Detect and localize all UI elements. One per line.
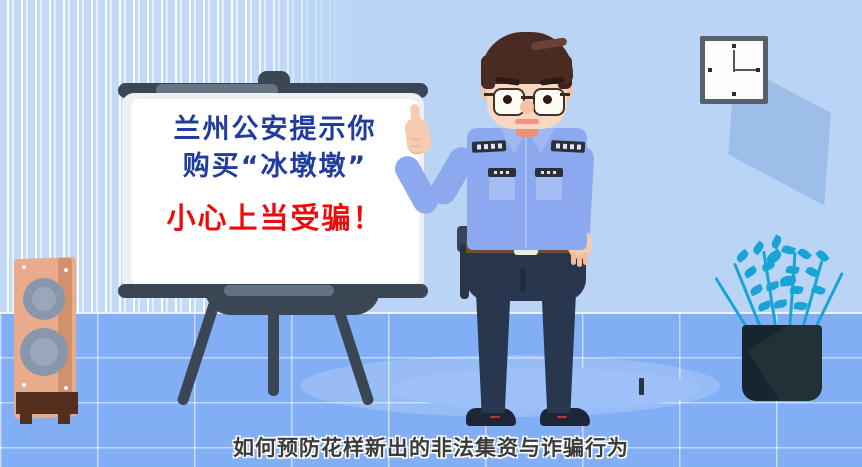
hand-knuckle — [411, 147, 422, 154]
illustration-scene: 兰州公安提示你 购买“冰墩墩” 小心上当受骗！ — [0, 0, 862, 467]
epaulette-stripe — [491, 144, 495, 149]
officer-eye-right — [543, 95, 552, 104]
clock-hour-hand — [734, 69, 756, 71]
whiteboard-bottom-bar-highlight — [224, 285, 334, 296]
wall-clock-icon — [700, 36, 768, 104]
officer-trouser-seam — [520, 268, 526, 292]
whiteboard-message: 兰州公安提示你 购买“冰墩墩” 小心上当受骗！ — [131, 112, 419, 238]
officer-finger — [577, 254, 582, 267]
whiteboard-line-2: 购买“冰墩墩” — [131, 148, 419, 186]
officer-pocket-left — [489, 174, 515, 200]
speaker-screw — [64, 268, 68, 272]
officer-epaulette-right — [551, 140, 586, 153]
subtitle-caption: 如何预防花样新出的非法集资与诈骗行为 — [0, 432, 862, 462]
pocket-flap-stripe — [547, 171, 550, 174]
officer-shirt-placket — [525, 130, 527, 248]
speaker-foot-right — [58, 412, 70, 424]
hand-knuckle — [410, 133, 421, 140]
clock-tick-3 — [756, 68, 760, 72]
officer-finger — [583, 252, 588, 265]
epaulette-stripe — [484, 144, 488, 149]
epaulette-stripe — [556, 143, 560, 148]
pocket-flap-stripe — [541, 171, 544, 174]
speaker-base — [16, 392, 78, 414]
epaulette-stripe — [563, 144, 567, 149]
pocket-flap-stripe — [553, 171, 556, 174]
clock-tick-9 — [708, 68, 712, 72]
shoe-lace — [490, 416, 500, 418]
epaulette-stripe — [498, 143, 502, 148]
officer-epaulette-left — [472, 140, 507, 153]
officer-pocket-flap-left — [488, 168, 516, 177]
officer-mouth — [515, 119, 539, 124]
speaker-screw — [22, 383, 26, 387]
clock-face — [705, 41, 763, 99]
speaker-foot-left — [20, 412, 32, 424]
pocket-flap-stripe — [500, 171, 503, 174]
speaker-screw — [22, 265, 26, 269]
epaulette-stripe — [577, 144, 581, 149]
pocket-flap-stripe — [506, 171, 509, 174]
clock-tick-12 — [732, 44, 736, 48]
officer-nose — [520, 100, 534, 114]
glasses-bridge — [521, 96, 533, 99]
officer-pocket-flap-right — [535, 168, 563, 177]
epaulette-stripe — [570, 144, 574, 149]
plant-pot-sheen — [742, 325, 822, 401]
shoe-lace — [557, 416, 567, 418]
whiteboard-line-3: 小心上当受骗！ — [131, 198, 419, 238]
whiteboard-line-1: 兰州公安提示你 — [131, 112, 419, 148]
clock-tick-6 — [732, 92, 736, 96]
speaker-screw — [64, 386, 68, 390]
epaulette-stripe — [477, 144, 481, 149]
speaker-driver-top-cone — [32, 287, 56, 311]
hand-knuckle — [410, 140, 421, 147]
floor-highlight-inner — [390, 368, 700, 410]
glasses-temple-left — [484, 93, 494, 96]
speaker-driver-bottom-cone — [30, 338, 58, 366]
officer-finger — [571, 252, 576, 265]
pocket-flap-stripe — [494, 171, 497, 174]
glasses-temple-right — [560, 93, 570, 96]
officer-eye-left — [503, 95, 512, 104]
marker-pen-icon — [639, 378, 644, 395]
officer-pocket-right — [536, 174, 562, 200]
